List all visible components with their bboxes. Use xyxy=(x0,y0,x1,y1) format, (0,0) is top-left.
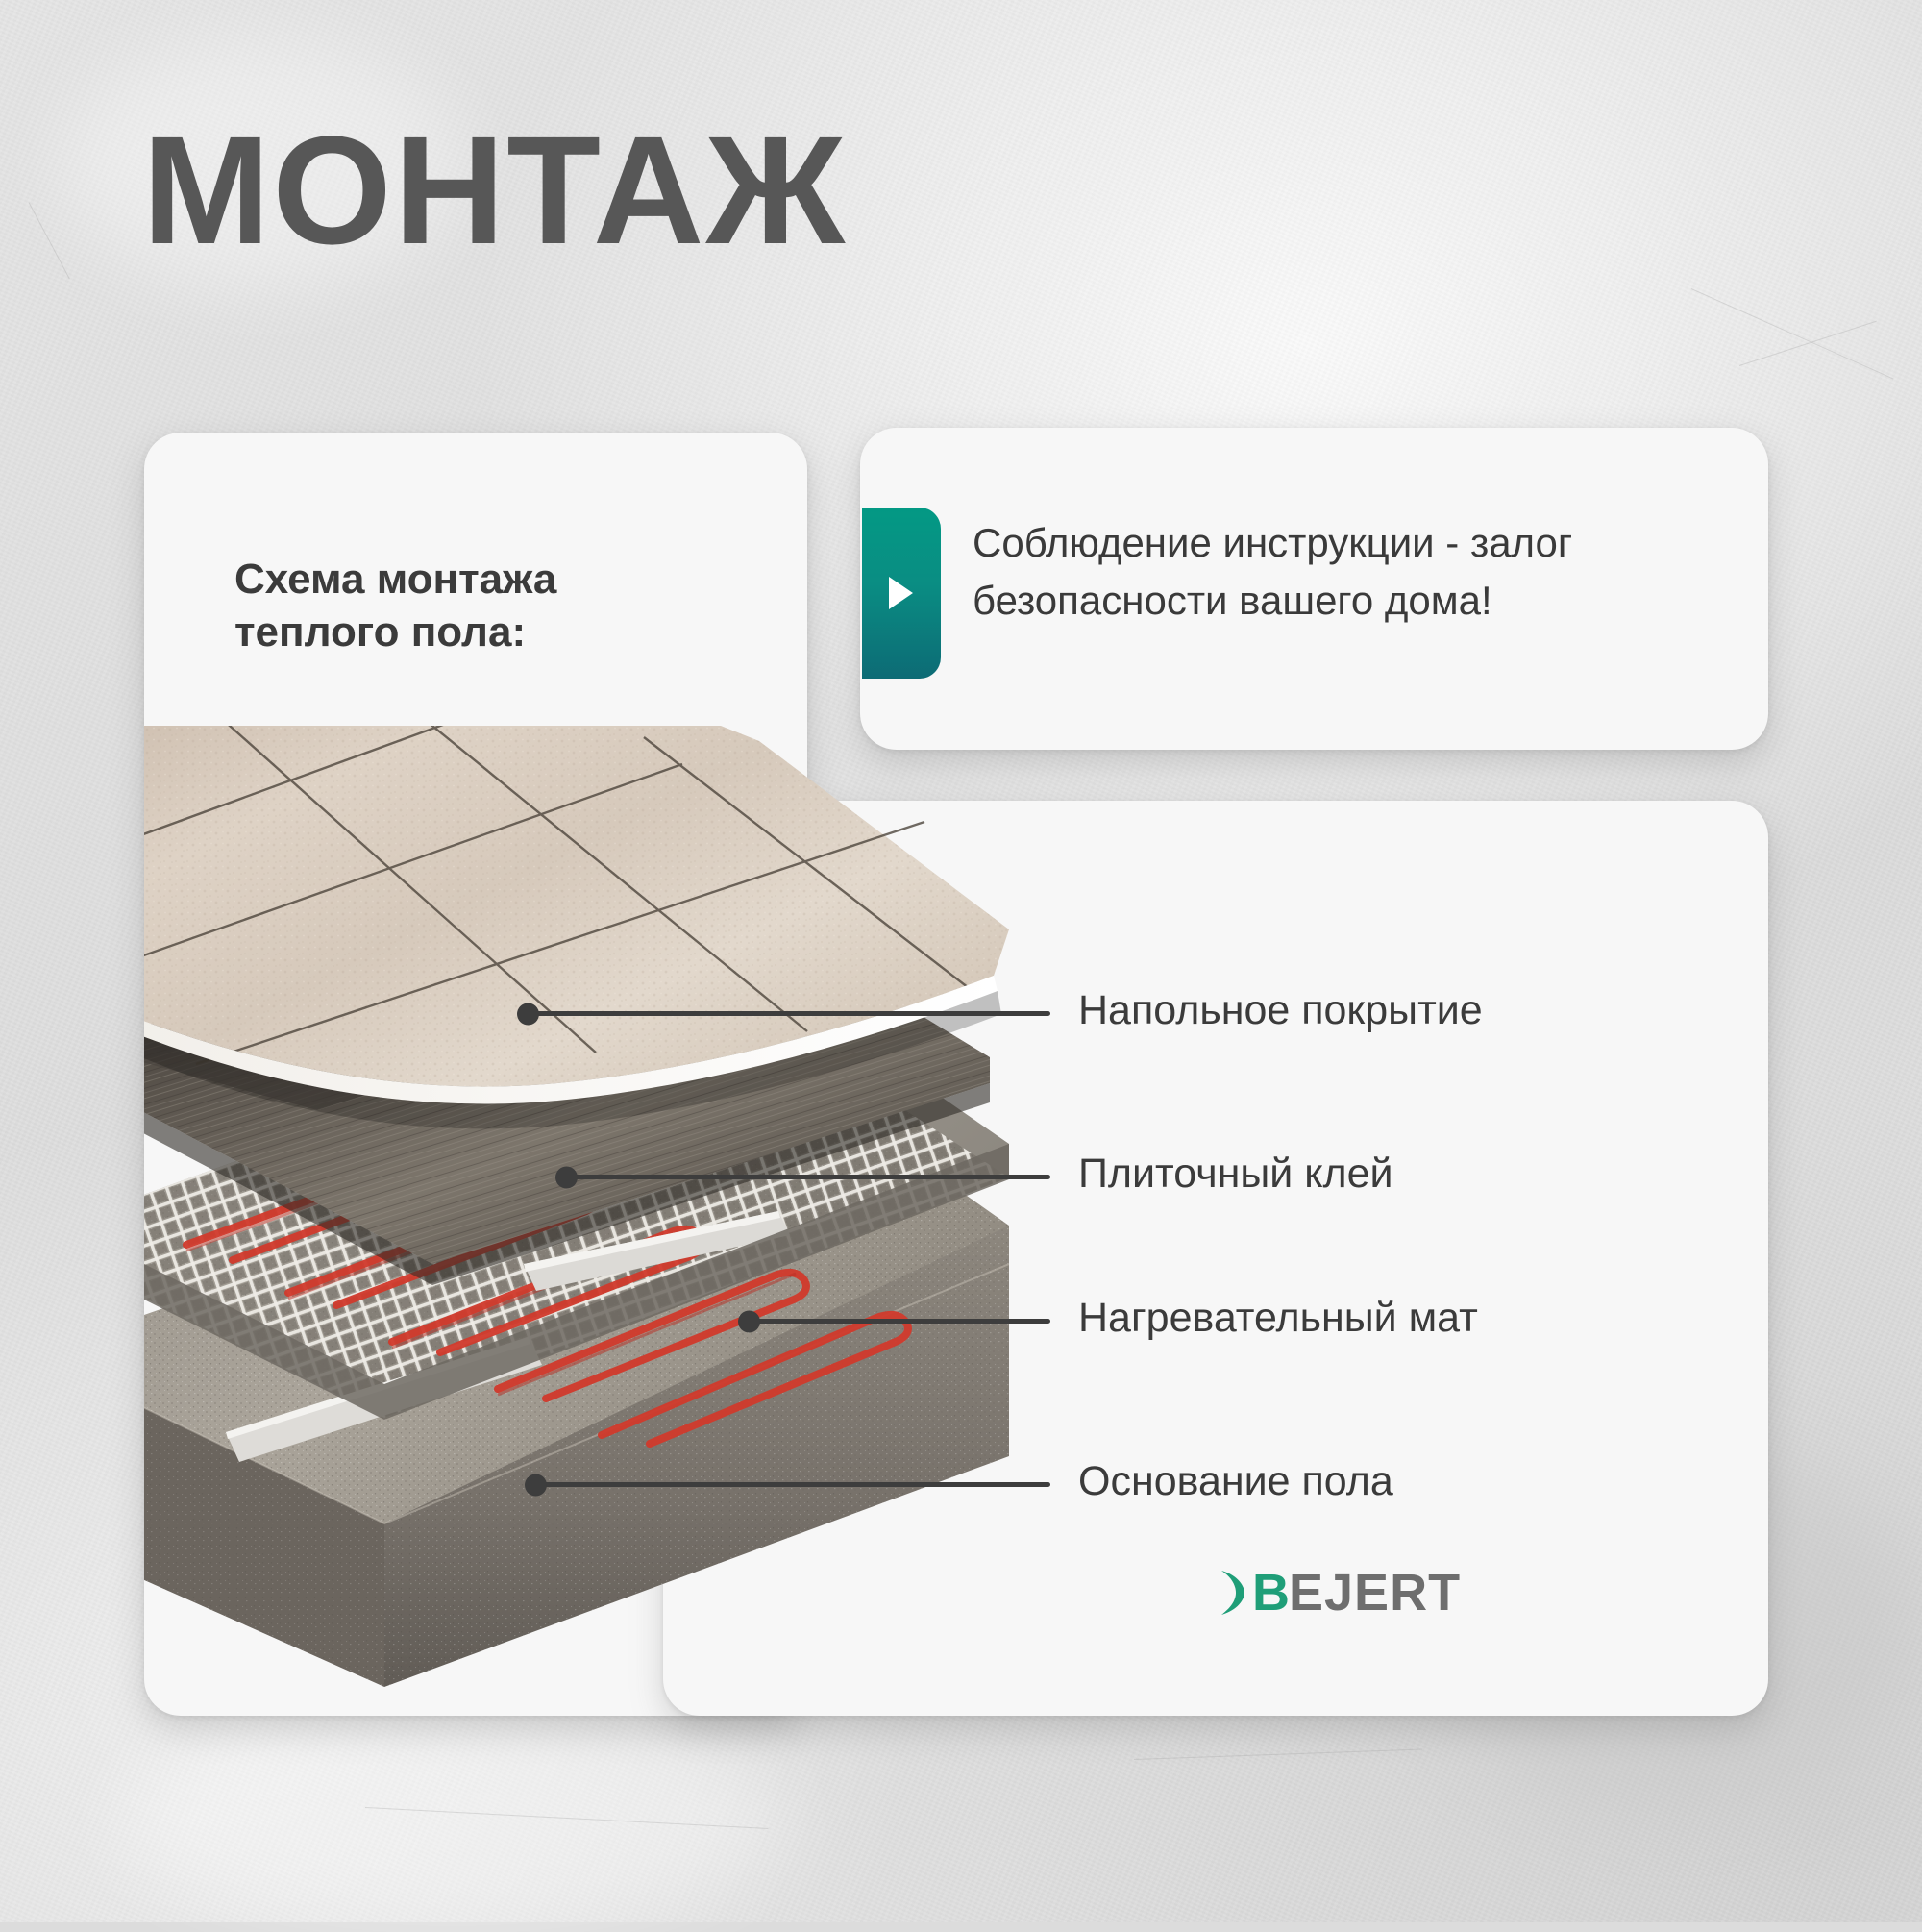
logo-name: EJERT xyxy=(1289,1567,1461,1619)
bejert-logo: B EJERT xyxy=(1218,1567,1461,1619)
label-floor-covering: Напольное покрытие xyxy=(1078,990,1483,1031)
label-tile-adhesive: Плиточный клей xyxy=(1078,1153,1393,1195)
bejert-leaf-icon xyxy=(1218,1568,1250,1618)
leader-line-floor-base xyxy=(531,1482,1050,1487)
notice-accent-tab xyxy=(862,508,941,679)
leader-line-heating-mat xyxy=(745,1319,1050,1324)
label-floor-base: Основание пола xyxy=(1078,1461,1393,1502)
layers-card xyxy=(663,801,1768,1716)
logo-accent-letter: B xyxy=(1252,1567,1289,1619)
scheme-card-heading: Схема монтажа теплого пола: xyxy=(234,553,638,658)
leader-line-tile-adhesive xyxy=(562,1175,1050,1179)
notice-card-text: Соблюдение инструкции - залог безопаснос… xyxy=(973,514,1703,629)
background-blotch xyxy=(115,1711,788,1932)
leader-line-floor-covering xyxy=(524,1011,1050,1016)
page-title: МОНТАЖ xyxy=(142,113,847,267)
play-arrow-icon xyxy=(889,577,913,609)
label-heating-mat: Нагревательный мат xyxy=(1078,1298,1478,1339)
